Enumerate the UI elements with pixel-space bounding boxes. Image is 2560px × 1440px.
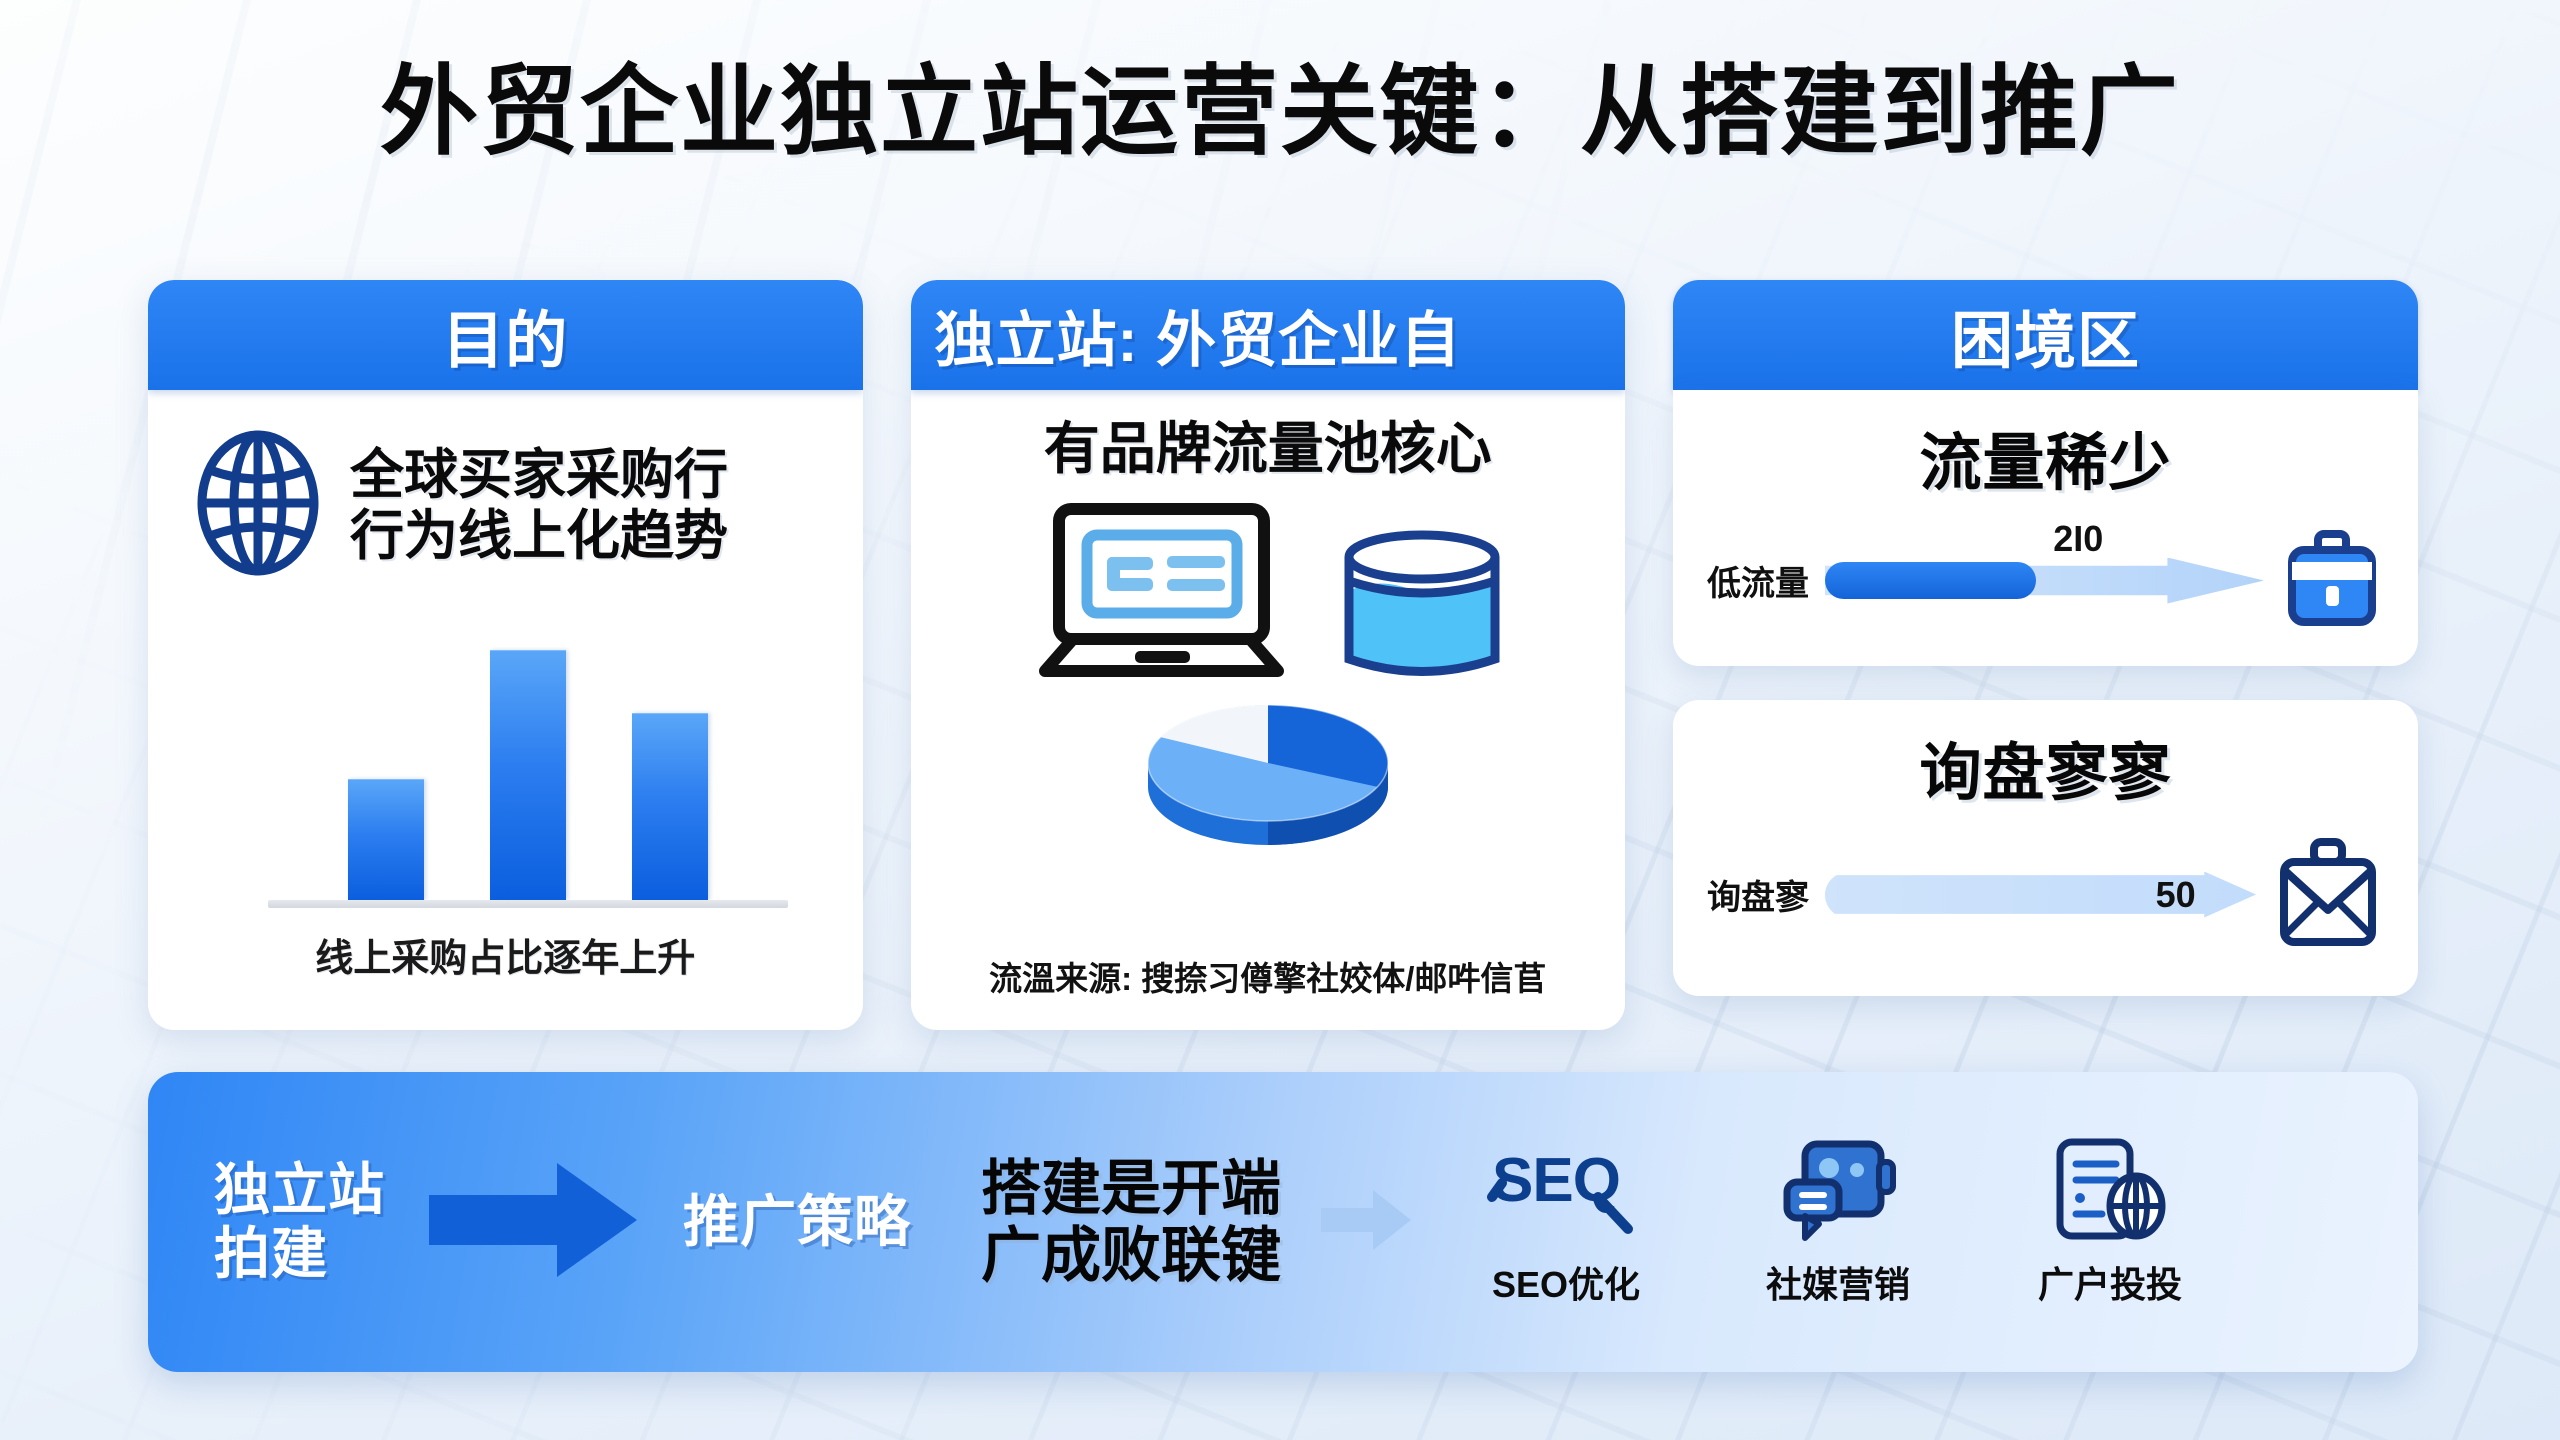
banner-left-group: 独立站 拍建 推广策略 <box>148 1158 911 1286</box>
small-right-arrow-icon <box>1321 1188 1413 1257</box>
few-inquiries-metric-value: 50 <box>2156 874 2196 916</box>
few-inquiries-metric-label: 询盘寥 <box>1707 870 1809 919</box>
card-difficulties: 困境区 流量稀少 低流量 2I0 <box>1673 280 2418 1030</box>
banner-left-line2: 拍建 <box>214 1222 385 1286</box>
few-inquiries-progress-track[interactable]: 50 <box>1825 872 2256 918</box>
mini-card-few-inquiries-title: 询盘寥寥 <box>1707 714 2384 812</box>
promo-item-seo[interactable]: SEQ SEO优化 <box>1461 1136 1671 1308</box>
card-independent-site-header-label: 独立站: 外贸企业自 <box>935 292 1462 379</box>
globe-headline-line2: 行为线上化趋势 <box>350 506 728 566</box>
card-independent-site: 独立站: 外贸企业自 有品牌流量池核心 <box>911 280 1626 1030</box>
card-purpose-body: 全球买家采购行 行为线上化趋势 线上采购占比逐年上升 <box>148 390 863 1030</box>
pie-chart <box>911 695 1626 845</box>
banner-strategy-label: 推广策略 <box>683 1190 911 1254</box>
bar-chart-baseline <box>268 900 788 908</box>
bar-chart-bar <box>348 779 424 900</box>
globe-headline-text: 全球买家采购行 行为线上化趋势 <box>350 445 728 566</box>
bar-chart <box>268 614 788 914</box>
card-independent-site-header: 独立站: 外贸企业自 <box>911 280 1626 390</box>
bar-chart-bar <box>632 713 708 900</box>
laptop-datapool-illustration <box>911 485 1626 689</box>
card-purpose: 目的 全球买家 <box>148 280 863 1030</box>
mail-briefcase-icon <box>2272 836 2384 953</box>
bar-chart-bars <box>268 620 788 900</box>
banner-left-line1: 独立站 <box>214 1158 385 1222</box>
card-difficulties-header-label: 困境区 <box>1951 290 2140 380</box>
card-purpose-header-label: 目的 <box>442 290 568 380</box>
mini-card-low-traffic-title: 流量稀少 <box>1707 404 2384 502</box>
promo-item-ads-label: 广户投投 <box>2038 1256 2182 1308</box>
pie-chart-svg <box>1103 695 1433 845</box>
low-traffic-progress-track[interactable]: 2I0 <box>1825 558 2264 604</box>
low-traffic-metric-value: 2I0 <box>2053 518 2103 560</box>
card-independent-site-footer: 流溫来源: 搜捺习僔擎社姣体/邮吽信苢 <box>911 952 1626 1000</box>
promo-item-social-label: 社媒营销 <box>1766 1256 1910 1308</box>
bar-chart-caption: 线上采购占比逐年上升 <box>148 927 863 982</box>
banner-mid-line2: 广成败联键 <box>981 1222 1281 1289</box>
cards-row: 目的 全球买家 <box>148 280 2418 1030</box>
seo-magnifier-icon: SEQ <box>1486 1136 1646 1246</box>
mini-card-few-inquiries: 询盘寥寥 询盘寥 50 <box>1673 700 2418 996</box>
briefcase-icon <box>2280 526 2384 635</box>
low-traffic-metric-label: 低流量 <box>1707 556 1809 605</box>
ad-globe-document-icon <box>2050 1136 2170 1246</box>
laptop-icon <box>1029 499 1329 689</box>
card-purpose-header: 目的 <box>148 280 863 390</box>
promo-item-ads[interactable]: 广户投投 <box>2005 1136 2215 1308</box>
banner-mid-text: 搭建是开端 广成败联键 <box>981 1155 1281 1289</box>
data-pool-icon <box>1337 519 1507 689</box>
globe-headline-line1: 全球买家采购行 <box>350 445 728 505</box>
few-inquiries-metric-row: 询盘寥 50 <box>1707 836 2384 953</box>
low-traffic-progress-fill <box>1825 562 2036 600</box>
bar-chart-bar <box>490 650 566 900</box>
bottom-banner: 独立站 拍建 推广策略 搭建是开端 广成败联键 SEQ SE <box>148 1072 2418 1372</box>
right-arrow-icon <box>429 1161 639 1284</box>
globe-icon <box>192 428 324 583</box>
card-independent-site-body: 有品牌流量池核心 <box>911 390 1626 1030</box>
page-title: 外贸企业独立站运营关键：从搭建到推广 <box>0 32 2560 174</box>
low-traffic-metric-row: 低流量 2I0 <box>1707 526 2384 635</box>
promo-item-seo-label: SEO优化 <box>1492 1256 1640 1308</box>
card-independent-site-subtitle: 有品牌流量池核心 <box>911 390 1626 485</box>
card-difficulties-header: 困境区 <box>1673 280 2418 390</box>
banner-mid-line1: 搭建是开端 <box>981 1155 1281 1222</box>
social-media-icon <box>1779 1136 1897 1246</box>
promo-item-social[interactable]: 社媒营销 <box>1733 1136 1943 1308</box>
mini-card-low-traffic: 流量稀少 低流量 2I0 <box>1673 390 2418 666</box>
banner-left-text: 独立站 拍建 <box>214 1158 385 1286</box>
globe-headline-row: 全球买家采购行 行为线上化趋势 <box>148 390 863 583</box>
promo-items: SEQ SEO优化 社媒营销 <box>1461 1136 2215 1308</box>
